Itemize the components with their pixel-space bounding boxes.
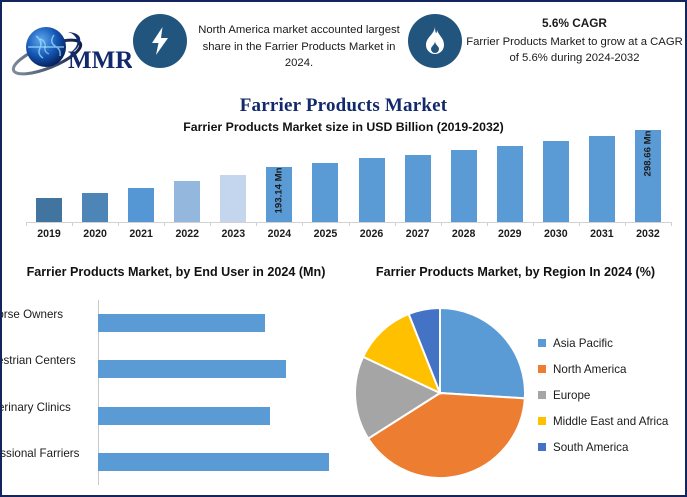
- bar-2019: [36, 198, 62, 222]
- header-callout-cagr: 5.6% CAGR Farrier Products Market to gro…: [464, 15, 685, 67]
- bar-2030: [543, 141, 569, 222]
- axis-tick: [302, 222, 303, 226]
- bar-slot: [302, 135, 348, 222]
- category-label-2028: 2028: [442, 228, 486, 240]
- end-user-panel: Farrier Products Market, by End User in …: [6, 258, 346, 495]
- bar-slot: [118, 135, 164, 222]
- legend-label: Asia Pacific: [553, 337, 613, 350]
- category-label-2031: 2031: [580, 228, 624, 240]
- bar-2028: [451, 150, 477, 222]
- legend-item-south-america: South America: [538, 434, 684, 460]
- legend-label: Middle East and Africa: [553, 415, 668, 428]
- svg-text:MMR: MMR: [68, 47, 132, 74]
- axis-tick: [26, 222, 27, 226]
- legend-item-middle-east-and-africa: Middle East and Africa: [538, 408, 684, 434]
- bar-slot: [441, 135, 487, 222]
- bar-2023: [220, 175, 246, 222]
- bar-2027: [405, 155, 431, 222]
- bar-2029: [497, 146, 523, 222]
- bar-2031: [589, 136, 615, 222]
- category-label-2019: 2019: [27, 228, 71, 240]
- bar-slot: [349, 135, 395, 222]
- category-label-2024: 2024: [257, 228, 301, 240]
- lightning-bolt-icon: [133, 14, 187, 68]
- bar-slot: [72, 135, 118, 222]
- pie-slice-asia-pacific: [440, 308, 525, 398]
- bar-slot: 298.66 Mn: [625, 135, 671, 222]
- category-label-2022: 2022: [165, 228, 209, 240]
- cagr-body: Farrier Products Market to grow at a CAG…: [466, 36, 683, 65]
- cagr-headline: 5.6% CAGR: [464, 15, 685, 32]
- bar-slot: 193.14 Mn: [256, 135, 302, 222]
- end-user-label-veterinary-clinics: Veterinary Clinics: [0, 400, 86, 416]
- category-label-2023: 2023: [211, 228, 255, 240]
- legend-label: South America: [553, 441, 628, 454]
- bar-2025: [312, 163, 338, 222]
- legend-swatch: [538, 391, 546, 399]
- axis-tick: [72, 222, 73, 226]
- axis-tick: [256, 222, 257, 226]
- category-label-2026: 2026: [350, 228, 394, 240]
- category-label-2027: 2027: [396, 228, 440, 240]
- category-label-2021: 2021: [119, 228, 163, 240]
- axis-tick: [441, 222, 442, 226]
- end-user-chart-title: Farrier Products Market, by End User in …: [6, 264, 346, 281]
- end-user-row: Equestrian Centers: [98, 346, 338, 392]
- axis-tick: [487, 222, 488, 226]
- end-user-bar-veterinary-clinics: [98, 407, 270, 425]
- bar-slot: [210, 135, 256, 222]
- category-label-2032: 2032: [626, 228, 670, 240]
- bar-value-label: 298.66 Mn: [642, 131, 653, 177]
- legend-swatch: [538, 417, 546, 425]
- bar-slot: [395, 135, 441, 222]
- axis-tick: [533, 222, 534, 226]
- infographic-canvas: MMR North America market accounted large…: [0, 0, 687, 497]
- region-legend: Asia PacificNorth AmericaEuropeMiddle Ea…: [538, 330, 684, 460]
- bar-2020: [82, 193, 108, 222]
- legend-item-asia-pacific: Asia Pacific: [538, 330, 684, 356]
- region-chart-title: Farrier Products Market, by Region In 20…: [346, 264, 685, 281]
- end-user-plot-area: Horse OwnersEquestrian CentersVeterinary…: [98, 300, 338, 485]
- bar-slot: [579, 135, 625, 222]
- axis-tick: [395, 222, 396, 226]
- end-user-label-horse-owners: Horse Owners: [0, 307, 86, 323]
- bar-2026: [359, 158, 385, 222]
- axis-tick: [210, 222, 211, 226]
- header-callout-north-america: North America market accounted largest s…: [192, 22, 406, 72]
- axis-tick: [118, 222, 119, 226]
- bar-slot: [164, 135, 210, 222]
- legend-item-north-america: North America: [538, 356, 684, 382]
- category-label-2029: 2029: [488, 228, 532, 240]
- bar-2024: 193.14 Mn: [266, 167, 292, 222]
- chart-subtitle: Farrier Products Market size in USD Bill…: [2, 120, 685, 134]
- legend-label: Europe: [553, 389, 590, 402]
- bar-2021: [128, 188, 154, 222]
- end-user-row: Veterinary Clinics: [98, 393, 338, 439]
- bar-slot: [487, 135, 533, 222]
- region-pie-chart: [352, 301, 532, 483]
- category-label-2020: 2020: [73, 228, 117, 240]
- bar-value-label: 193.14 Mn: [274, 168, 285, 214]
- bar-slot: [533, 135, 579, 222]
- bar-chart-plot-area: 193.14 Mn298.66 Mn: [26, 135, 671, 222]
- region-panel: Farrier Products Market, by Region In 20…: [346, 258, 685, 495]
- axis-tick: [579, 222, 580, 226]
- bar-2022: [174, 181, 200, 222]
- axis-tick: [349, 222, 350, 226]
- axis-tick: [164, 222, 165, 226]
- legend-swatch: [538, 443, 546, 451]
- bar-2032: 298.66 Mn: [635, 130, 661, 222]
- legend-label: North America: [553, 363, 626, 376]
- end-user-label-professional-farriers: Professional Farriers: [0, 446, 86, 462]
- market-size-bar-chart: 193.14 Mn298.66 Mn 201920202021202220232…: [26, 135, 671, 240]
- end-user-bar-horse-owners: [98, 314, 265, 332]
- end-user-bar-equestrian-centers: [98, 360, 286, 378]
- axis-tick: [625, 222, 626, 226]
- mmr-logo: MMR: [10, 14, 132, 80]
- header-band: MMR North America market accounted large…: [2, 2, 685, 90]
- axis-tick: [671, 222, 672, 226]
- legend-swatch: [538, 365, 546, 373]
- flame-icon: [408, 14, 462, 68]
- legend-swatch: [538, 339, 546, 347]
- bar-slot: [26, 135, 72, 222]
- legend-item-europe: Europe: [538, 382, 684, 408]
- end-user-row: Professional Farriers: [98, 439, 338, 485]
- end-user-label-equestrian-centers: Equestrian Centers: [0, 353, 86, 369]
- category-label-2025: 2025: [303, 228, 347, 240]
- page-title: Farrier Products Market: [2, 95, 685, 117]
- category-label-2030: 2030: [534, 228, 578, 240]
- end-user-bar-professional-farriers: [98, 453, 329, 471]
- end-user-row: Horse Owners: [98, 300, 338, 346]
